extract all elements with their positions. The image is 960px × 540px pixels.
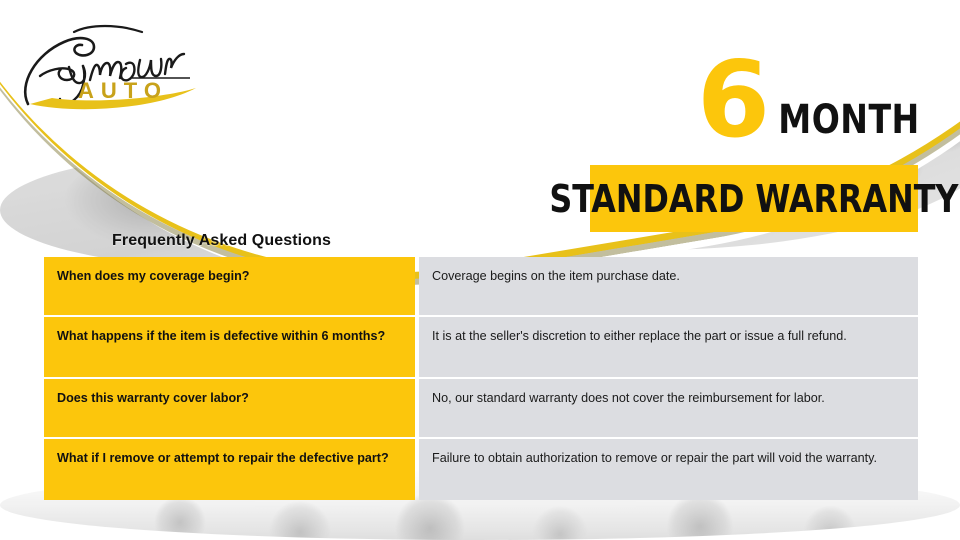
faq-question: Does this warranty cover labor? [44,379,415,437]
warranty-months-label: MONTH [779,100,920,140]
warranty-months-number: 6 [697,48,768,153]
faq-table: When does my coverage begin? Coverage be… [44,257,918,502]
faq-question: What if I remove or attempt to repair th… [44,439,415,500]
faq-answer: It is at the seller's discretion to eith… [419,317,918,377]
svg-text:AUTO: AUTO [78,78,168,103]
warranty-slide: AUTO 6 MONTH STANDARD WARRANTY Frequentl… [0,0,960,540]
brand-logo[interactable]: AUTO [14,18,204,116]
faq-question: When does my coverage begin? [44,257,415,315]
faq-answer: Coverage begins on the item purchase dat… [419,257,918,315]
seymour-auto-logo-icon: AUTO [14,18,204,116]
faq-answer: Failure to obtain authorization to remov… [419,439,918,500]
table-row: What happens if the item is defective wi… [44,317,918,377]
table-row: Does this warranty cover labor? No, our … [44,379,918,437]
table-row: What if I remove or attempt to repair th… [44,439,918,500]
faq-title: Frequently Asked Questions [112,232,331,250]
standard-warranty-label: STANDARD WARRANTY [549,180,958,218]
table-row: When does my coverage begin? Coverage be… [44,257,918,315]
standard-warranty-banner: STANDARD WARRANTY [590,165,918,232]
faq-answer: No, our standard warranty does not cover… [419,379,918,437]
faq-question: What happens if the item is defective wi… [44,317,415,377]
warranty-headline: 6 MONTH [590,56,920,156]
